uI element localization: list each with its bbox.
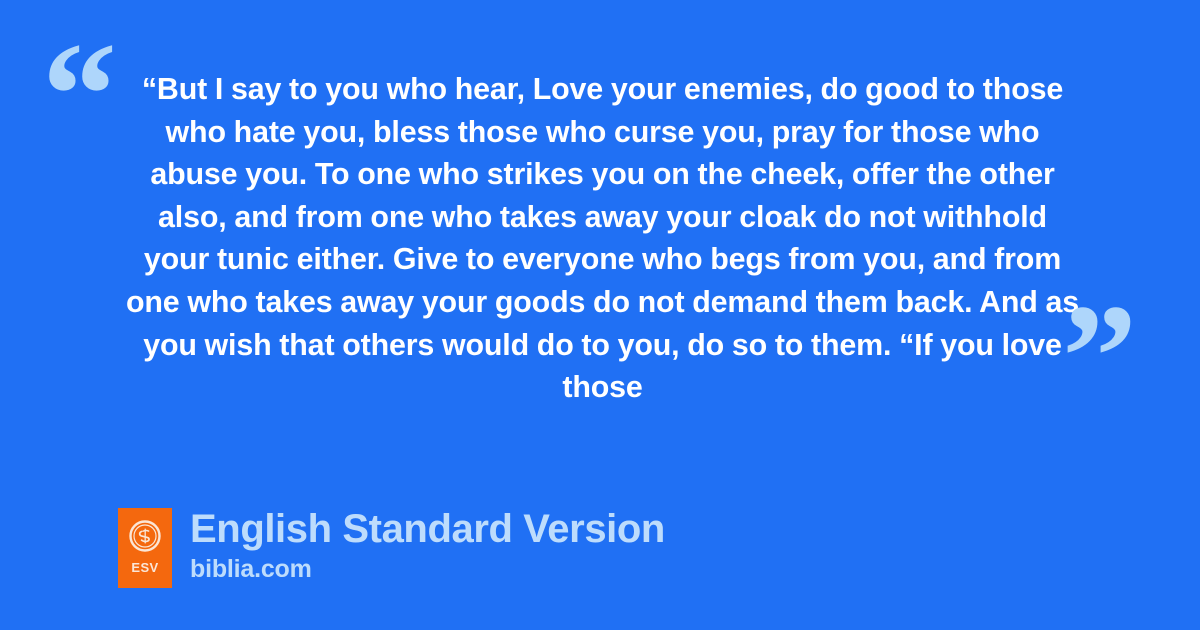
attribution: ESV English Standard Version biblia.com (118, 508, 665, 588)
attribution-text: English Standard Version biblia.com (190, 508, 665, 584)
quote-text: “But I say to you who hear, Love your en… (125, 68, 1080, 409)
open-quote-icon: “ (42, 20, 115, 170)
esv-seal-icon (129, 520, 161, 552)
site-url[interactable]: biblia.com (190, 554, 665, 584)
close-quote-icon: ” (1062, 282, 1135, 432)
bible-version-name: English Standard Version (190, 506, 665, 552)
quote-card: “ “But I say to you who hear, Love your … (0, 0, 1200, 630)
esv-logo: ESV (118, 508, 172, 588)
esv-logo-label: ESV (118, 561, 172, 574)
